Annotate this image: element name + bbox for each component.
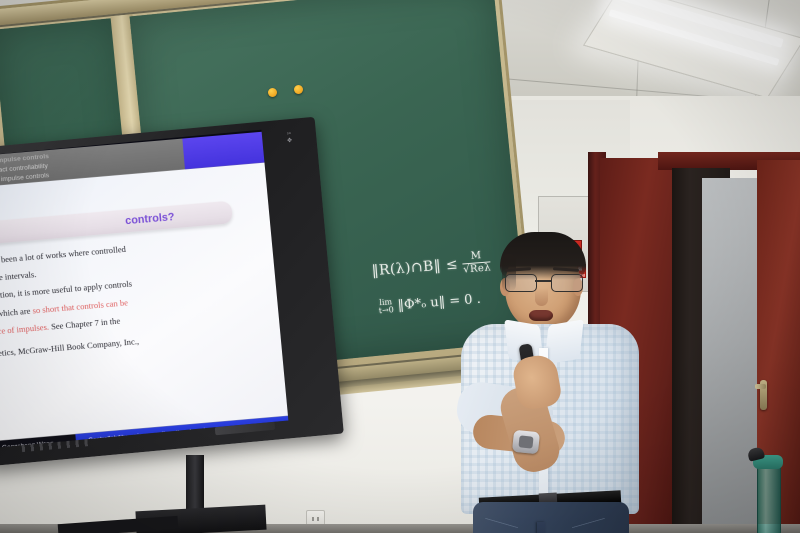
- slide-body-line-4-highlight: so short that controls can be: [32, 298, 128, 315]
- water-bottle[interactable]: [757, 466, 781, 533]
- mouth: [529, 310, 553, 321]
- hair: [500, 232, 586, 280]
- collar-right: [544, 319, 584, 364]
- presentation-display[interactable]: ...ctor of impulse controls Exact contro…: [0, 117, 344, 467]
- wristwatch: [512, 430, 540, 455]
- lecture-room-photo: ‖R(λ)∩B‖ ≤ M √Reλ lim t→0 ‖Φ*ₒ u‖ = 0 . …: [0, 0, 800, 533]
- board-magnet: [294, 85, 303, 94]
- board-magnet: [268, 88, 277, 97]
- slide-body-line-5-tail: See Chapter 7 in the: [49, 316, 121, 331]
- presenter: [455, 236, 645, 533]
- lens-right: [551, 274, 583, 292]
- lens-left: [505, 274, 537, 292]
- doorway-interior: [702, 178, 760, 533]
- jeans-fly: [537, 522, 545, 533]
- glasses-bridge: [535, 280, 551, 282]
- presentation-slide: ...ctor of impulse controls Exact contro…: [0, 131, 288, 448]
- slide-body-line-5-highlight: ojected to a sequence of impulses.: [0, 322, 49, 341]
- nose: [535, 288, 548, 306]
- display-screen[interactable]: ...ctor of impulse controls Exact contro…: [0, 130, 288, 448]
- display-status-icon: ▫▫✥: [278, 130, 302, 158]
- door-handle[interactable]: [760, 380, 767, 410]
